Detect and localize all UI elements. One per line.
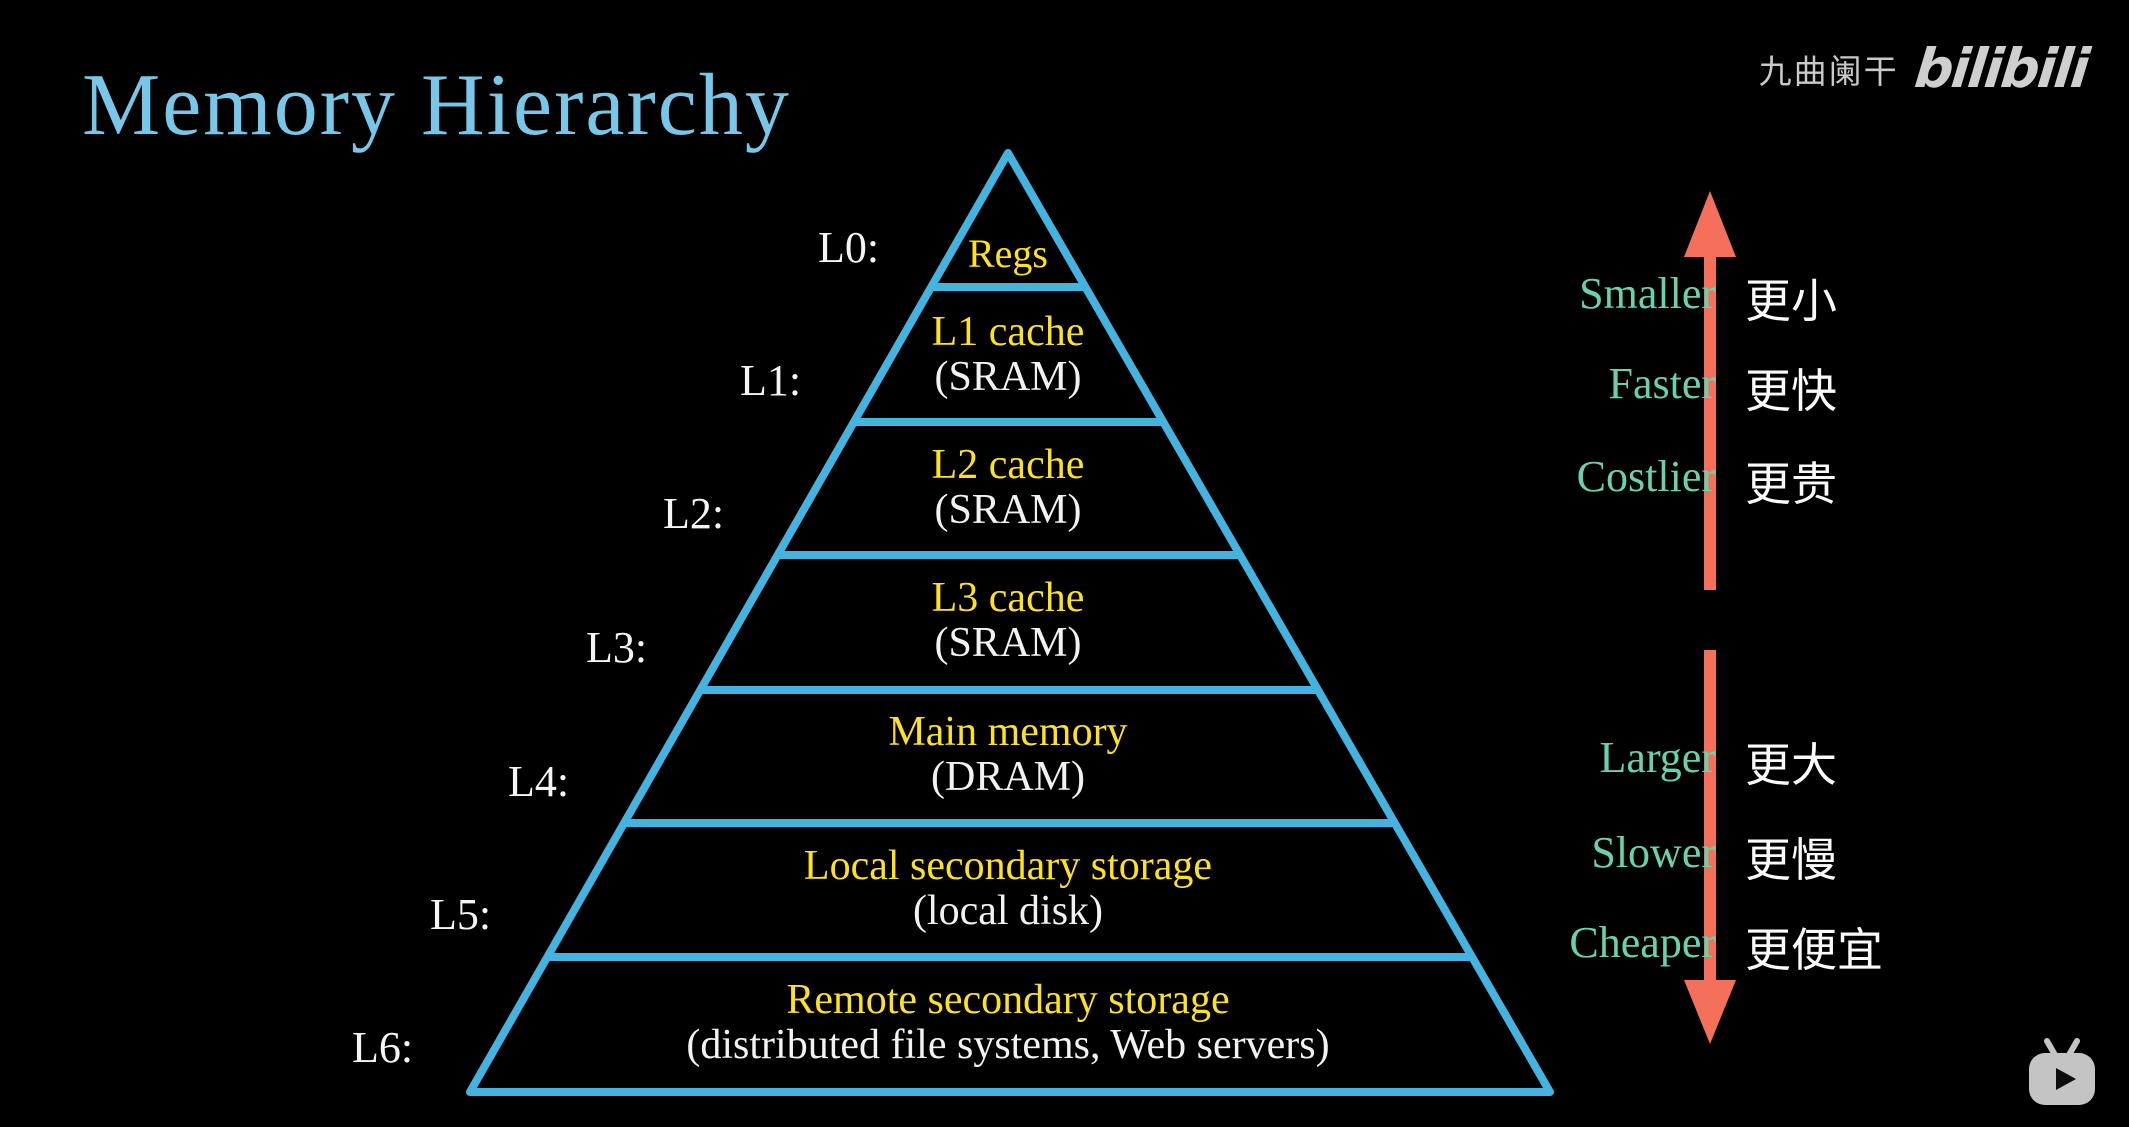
annotation-down-zh-0: 更大 xyxy=(1745,729,1975,795)
level-l5-primary: Local secondary storage xyxy=(558,844,1458,889)
page-title: Memory Hierarchy xyxy=(82,62,791,150)
annotation-down-zh-2: 更便宜 xyxy=(1745,914,1975,980)
annotation-up-zh-0: 更小 xyxy=(1745,265,1975,331)
level-l3-primary: L3 cache xyxy=(558,576,1458,621)
bilibili-tv-play-icon xyxy=(2023,1037,2101,1109)
annotation-down-en-2: Cheaper xyxy=(1486,917,1716,968)
annotation-up-zh-2: 更贵 xyxy=(1745,448,1975,514)
pyramid-level-l2: L2 cache (SRAM) xyxy=(558,443,1458,534)
level-l4-secondary: (DRAM) xyxy=(558,755,1458,800)
watermark-username: 九曲阑干 xyxy=(1759,45,1899,93)
level-l4-primary: Main memory xyxy=(558,710,1458,755)
pyramid-level-l6: Remote secondary storage (distributed fi… xyxy=(558,978,1458,1069)
annotation-up-en-2: Costlier xyxy=(1486,451,1716,502)
pyramid-level-l5: Local secondary storage (local disk) xyxy=(558,844,1458,935)
level-l5-secondary: (local disk) xyxy=(558,889,1458,934)
annotation-down-en-1: Slower xyxy=(1486,827,1716,878)
pyramid-level-l3: L3 cache (SRAM) xyxy=(558,576,1458,667)
bilibili-logo: bilibili xyxy=(1912,42,2090,96)
level-l6-primary: Remote secondary storage xyxy=(558,978,1458,1023)
level-l1-secondary: (SRAM) xyxy=(558,355,1458,400)
annotation-up-zh-1: 更快 xyxy=(1745,355,1975,421)
level-l3-secondary: (SRAM) xyxy=(558,621,1458,666)
level-tag-l6: L6: xyxy=(352,1022,413,1073)
annotation-down-en-0: Larger xyxy=(1486,732,1716,783)
annotation-down-zh-1: 更慢 xyxy=(1745,824,1975,890)
annotation-up-en-1: Faster xyxy=(1486,358,1716,409)
level-l0-primary: Regs xyxy=(558,232,1458,275)
level-l2-secondary: (SRAM) xyxy=(558,488,1458,533)
pyramid-level-l4: Main memory (DRAM) xyxy=(558,710,1458,801)
level-l6-secondary: (distributed file systems, Web servers) xyxy=(558,1023,1458,1068)
pyramid-level-l1: L1 cache (SRAM) xyxy=(558,310,1458,401)
pyramid-level-l0: Regs xyxy=(558,232,1458,275)
annotation-up-en-0: Smaller xyxy=(1486,268,1716,319)
level-l2-primary: L2 cache xyxy=(558,443,1458,488)
level-tag-l5: L5: xyxy=(430,889,491,940)
watermark: 九曲阑干 bilibili xyxy=(1759,42,2087,96)
level-l1-primary: L1 cache xyxy=(558,310,1458,355)
